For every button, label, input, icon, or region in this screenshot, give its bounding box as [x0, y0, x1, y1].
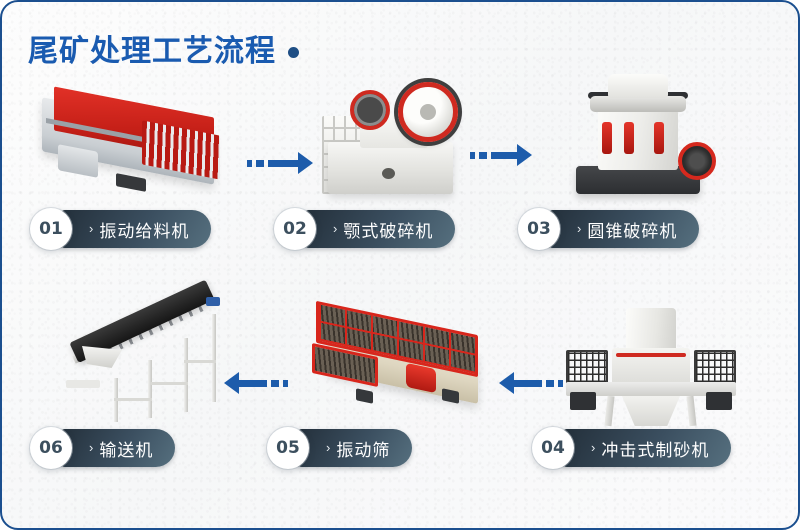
sand-maker-left-platform-railing: [566, 350, 608, 384]
title-text: 尾矿处理工艺流程: [28, 26, 276, 70]
screen-support-foot: [356, 388, 373, 404]
arrow-dash-segment: [546, 380, 554, 387]
arrow-dash-segment: [256, 160, 264, 167]
sand-maker-feed-cylinder: [626, 308, 676, 352]
sand-maker-support-leg: [604, 396, 614, 427]
cone-crusher-hydraulic-cylinder: [654, 122, 664, 154]
chevron-right-icon: ›: [591, 441, 595, 454]
step-03-label: 圆锥破碎机: [587, 217, 677, 242]
step-05-number-badge: 05: [267, 427, 309, 469]
step-02-label-ribbon[interactable]: › 颚式破碎机: [303, 210, 455, 248]
jaw-crusher-rear-flywheel: [350, 90, 390, 130]
step-04-number-badge: 04: [532, 427, 574, 469]
jaw-crusher-access-port: [382, 168, 395, 179]
arrow-05-to-06: [224, 374, 288, 392]
arrow-dash-segment: [470, 152, 475, 159]
cone-crusher-feed-hopper: [608, 74, 668, 98]
step-02[interactable]: 02 › 颚式破碎机: [274, 208, 455, 250]
arrow-dash-segment: [283, 380, 288, 387]
step-06-label: 输送机: [99, 436, 153, 461]
arrow-shaft: [268, 160, 298, 167]
page-title: 尾矿处理工艺流程: [28, 26, 299, 70]
sand-maker-discharge-hopper: [622, 396, 680, 426]
step-02-label: 颚式破碎机: [343, 217, 433, 242]
arrow-dash-segment: [479, 152, 487, 159]
arrow-02-to-03: [470, 146, 532, 164]
arrow-head-icon: [499, 372, 514, 394]
impact-sand-maker-illustration: [550, 304, 750, 429]
cone-crusher-collar: [590, 96, 686, 112]
conveyor-head-drive-box: [206, 297, 220, 306]
chevron-right-icon: ›: [333, 222, 337, 235]
belt-conveyor-illustration: [64, 294, 239, 434]
conveyor-cross-brace: [114, 398, 152, 401]
process-flow-diagram: 尾矿处理工艺流程: [0, 0, 800, 530]
step-02-number-badge: 02: [274, 208, 316, 250]
arrow-dash-segment: [558, 380, 563, 387]
conveyor-support-leg: [184, 338, 188, 412]
screen-support-foot: [442, 388, 459, 404]
sand-maker-right-motor: [706, 392, 732, 410]
feeder-support-foot: [116, 173, 146, 192]
jaw-crusher-illustration: [320, 64, 470, 209]
arrow-head-icon: [224, 372, 239, 394]
sand-maker-right-platform-railing: [694, 350, 736, 384]
arrow-shaft: [239, 380, 267, 387]
jaw-crusher-flywheel-hub: [420, 104, 436, 120]
conveyor-cross-brace: [184, 360, 216, 363]
conveyor-cross-brace: [150, 382, 188, 385]
sand-maker-support-leg: [686, 396, 696, 427]
conveyor-support-leg: [148, 360, 152, 418]
arrow-01-to-02: [247, 154, 313, 172]
step-04-label: 冲击式制砂机: [601, 436, 709, 461]
step-01-label: 振动给料机: [99, 217, 189, 242]
chevron-right-icon: ›: [577, 222, 581, 235]
step-03-label-ribbon[interactable]: › 圆锥破碎机: [547, 210, 699, 248]
step-05-label: 振动筛: [336, 436, 390, 461]
cone-crusher-illustration: [568, 64, 728, 204]
step-01-number-badge: 01: [30, 208, 72, 250]
step-01[interactable]: 01 › 振动给料机: [30, 208, 211, 250]
conveyor-tail-pulley-housing: [66, 380, 100, 388]
chevron-right-icon: ›: [89, 222, 93, 235]
sand-maker-left-motor: [570, 392, 596, 410]
arrow-head-icon: [298, 152, 313, 174]
step-04-label-ribbon[interactable]: › 冲击式制砂机: [561, 429, 731, 467]
cone-crusher-hydraulic-cylinder: [602, 122, 612, 154]
step-06-label-ribbon[interactable]: › 输送机: [59, 429, 175, 467]
vibrating-feeder-illustration: [24, 90, 234, 200]
title-dot-icon: [288, 47, 299, 58]
step-05-label-ribbon[interactable]: › 振动筛: [296, 429, 412, 467]
cone-crusher-drive-pulley: [678, 142, 716, 180]
arrow-dash-segment: [271, 380, 279, 387]
step-05[interactable]: 05 › 振动筛: [267, 427, 412, 469]
step-04[interactable]: 04 › 冲击式制砂机: [532, 427, 731, 469]
chevron-right-icon: ›: [326, 441, 330, 454]
arrow-dash-segment: [247, 160, 252, 167]
step-06-number-badge: 06: [30, 427, 72, 469]
step-06[interactable]: 06 › 输送机: [30, 427, 175, 469]
sand-maker-accent-stripe: [616, 353, 686, 357]
cone-crusher-hydraulic-cylinder: [624, 122, 634, 154]
step-03[interactable]: 03 › 圆锥破碎机: [518, 208, 699, 250]
step-01-label-ribbon[interactable]: › 振动给料机: [59, 210, 211, 248]
arrow-head-icon: [517, 144, 532, 166]
conveyor-support-leg: [212, 314, 216, 402]
arrow-shaft: [514, 380, 542, 387]
vibrating-screen-illustration: [302, 310, 502, 425]
arrow-04-to-05: [499, 374, 563, 392]
step-03-number-badge: 03: [518, 208, 560, 250]
chevron-right-icon: ›: [89, 441, 93, 454]
arrow-shaft: [491, 152, 517, 159]
